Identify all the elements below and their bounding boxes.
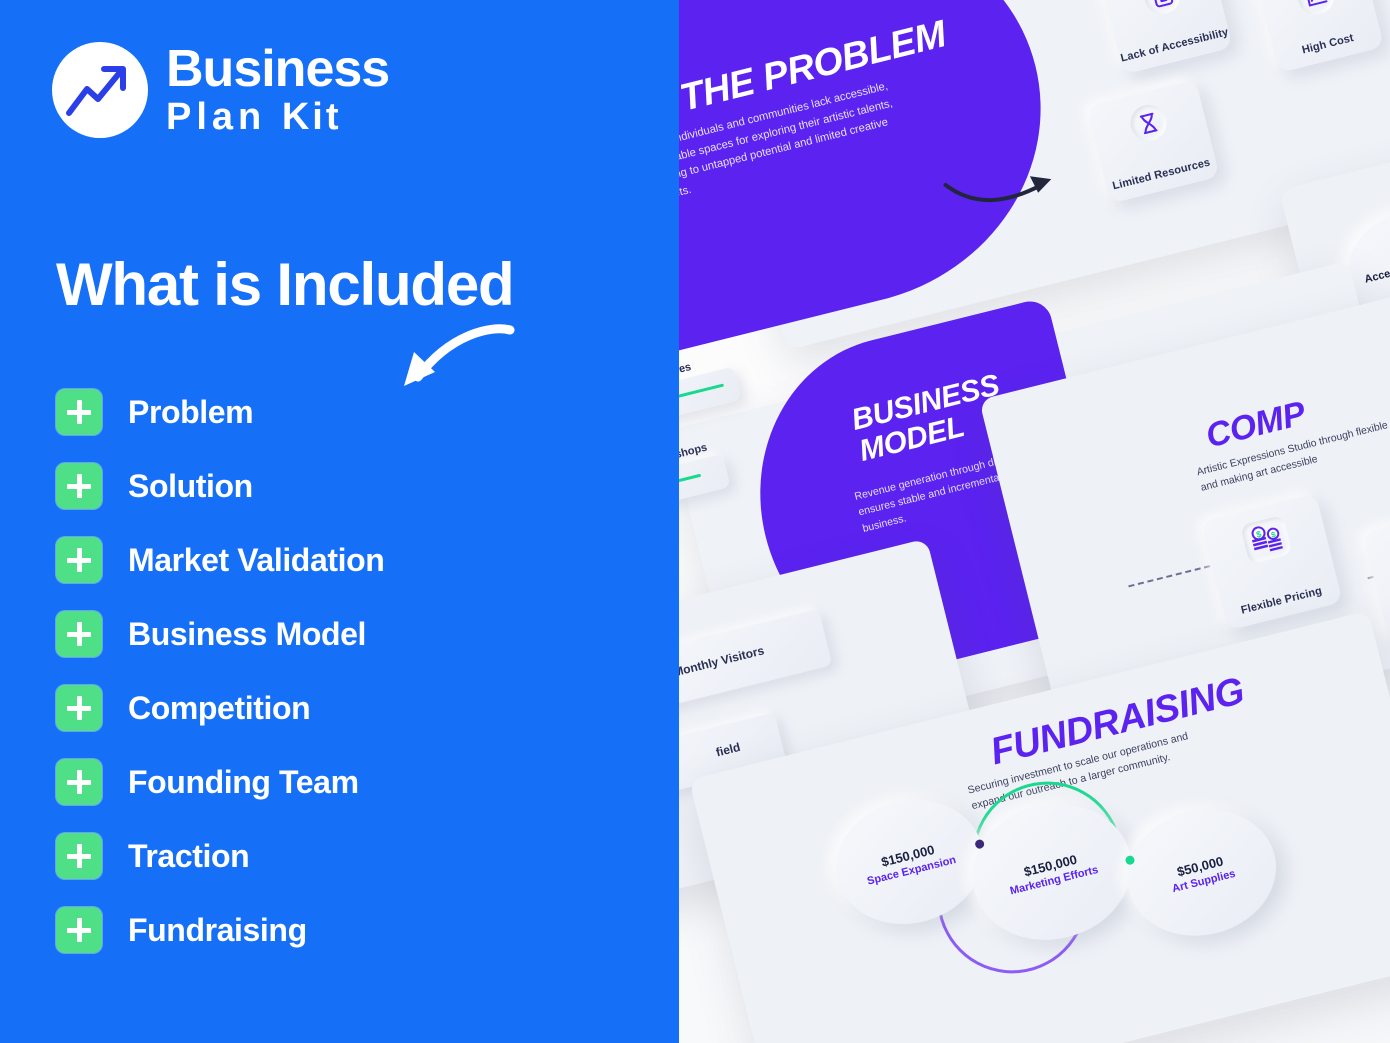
problem-card-limited-resources[interactable]: Limited Resources — [1087, 79, 1220, 203]
pcard-label: Flexible Pricing — [1223, 580, 1341, 622]
bar-fill — [679, 383, 724, 417]
problem-card-accessibility[interactable]: Lack of Accessibility — [1100, 0, 1232, 74]
brand-line-1: Business — [166, 43, 389, 96]
pcard-label: Professional Artists — [1385, 593, 1390, 636]
feature-label: Fundraising — [128, 912, 307, 949]
metric-secondary-label: field — [714, 740, 741, 760]
competition-card-flexible-pricing[interactable]: $ $ Flexible Pricing — [1201, 493, 1343, 630]
brand-wordmark: Business Plan Kit — [166, 43, 389, 138]
pcard-label: Accessible Spaces — [1363, 250, 1390, 287]
page-title: What is Included — [56, 250, 514, 319]
plus-icon — [56, 463, 102, 509]
list-item[interactable]: Competition — [56, 682, 616, 734]
problem-card-high-cost[interactable]: High Cost — [1256, 0, 1384, 73]
pcard-label: Limited Resources — [1106, 155, 1218, 195]
plus-icon — [56, 611, 102, 657]
declining-chart-icon — [1294, 0, 1338, 19]
list-item[interactable]: Fundraising — [56, 904, 616, 956]
plus-icon — [56, 685, 102, 731]
feature-label: Competition — [128, 690, 310, 727]
bar-fill — [679, 474, 701, 505]
list-item[interactable]: Problem — [56, 386, 616, 438]
fundraising-bubble-art-supplies[interactable]: $50,000 Art Supplies — [1114, 794, 1290, 951]
plus-icon — [56, 907, 102, 953]
list-item[interactable]: Solution — [56, 460, 616, 512]
hourglass-icon — [1127, 101, 1171, 145]
brand-word-kit: Kit — [282, 96, 342, 138]
poster-root: Business Plan Kit What is Included Probl… — [0, 0, 1390, 1043]
slide-previews-panel: THE PROBLEM Many individuals and communi… — [679, 0, 1390, 1043]
feature-label: Founding Team — [128, 764, 359, 801]
list-item[interactable]: Market Validation — [56, 534, 616, 586]
pcard-label: Lack of Accessibility — [1119, 26, 1231, 66]
list-item[interactable]: Traction — [56, 830, 616, 882]
feature-label: Solution — [128, 468, 253, 505]
revenue-bar-drop-in-fees[interactable]: Drop-in Fees — [679, 366, 742, 435]
list-item[interactable]: Business Model — [56, 608, 616, 660]
connector-dashed-line — [1128, 565, 1210, 587]
revenue-bar-workshops[interactable]: Exploration Workshops — [679, 454, 731, 523]
left-blue-panel: Business Plan Kit What is Included Probl… — [0, 0, 679, 1043]
plus-icon — [56, 833, 102, 879]
stacked-coins-icon: $ $ — [1240, 515, 1292, 564]
list-item[interactable]: Founding Team — [56, 756, 616, 808]
metric-label: Monthly Visitors — [679, 643, 766, 679]
feature-label: Business Model — [128, 616, 366, 653]
plus-icon — [56, 389, 102, 435]
feature-label: Traction — [128, 838, 249, 875]
feature-list: Problem Solution Market Validation Busin… — [56, 386, 616, 978]
growth-chart-arrow-icon — [52, 42, 148, 138]
plus-icon — [56, 537, 102, 583]
brand-logo: Business Plan Kit — [52, 42, 389, 138]
feature-label: Market Validation — [128, 542, 384, 579]
brand-line-2: Plan Kit — [166, 98, 389, 138]
locked-document-icon — [1140, 0, 1184, 18]
plus-icon — [56, 759, 102, 805]
feature-label: Problem — [128, 394, 253, 431]
brand-word-plan: Plan — [166, 96, 266, 138]
traction-metric-card[interactable]: Monthly Visitors — [679, 609, 832, 711]
pcard-label: High Cost — [1274, 25, 1382, 64]
